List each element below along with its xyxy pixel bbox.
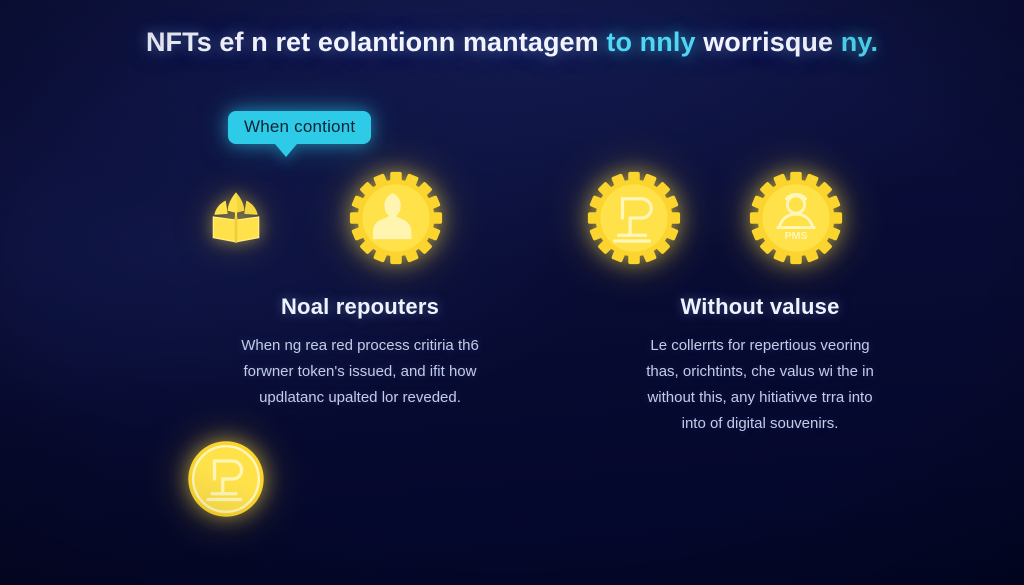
- column-left-body: When ng rea red process critiria th6 for…: [150, 333, 570, 411]
- title-segment-2: worrisque: [696, 27, 841, 57]
- column-right-line-3: without this, any hitiativve trra into: [560, 385, 960, 411]
- round-coin-monument-icon: [185, 438, 267, 520]
- column-right-line-4: into of digital souvenirs.: [560, 411, 960, 437]
- column-right-heading: Without valuse: [560, 294, 960, 320]
- title-accent-2: ny.: [841, 27, 878, 57]
- callout-bubble-tail: [275, 144, 297, 157]
- column-right-body: Le collerrts for repertious veoring thas…: [560, 333, 960, 437]
- callout-bubble[interactable]: When contiont: [228, 111, 371, 144]
- page-title: NFTs ef n ret eolantionn mantagem to nnl…: [0, 27, 1024, 58]
- callout-bubble-label: When contiont: [244, 117, 355, 136]
- column-left-line-1: When ng rea red process critiria th6: [150, 333, 570, 359]
- column-right-line-1: Le collerrts for repertious veoring: [560, 333, 960, 359]
- gear-coin-pms-icon: PMS: [748, 170, 844, 266]
- column-right: Without valuse Le collerrts for repertio…: [560, 294, 960, 437]
- book-with-leaves-icon: [203, 186, 269, 252]
- column-left-heading: Noal repouters: [150, 294, 570, 320]
- title-accent-1: to nnly: [606, 27, 695, 57]
- column-left-line-3: updlatanc upalted lor reveded.: [150, 385, 570, 411]
- column-left: Noal repouters When ng rea red process c…: [150, 294, 570, 411]
- callout-bubble-body: When contiont: [228, 111, 371, 144]
- title-segment-1: NFTs ef n ret eolantionn mantagem: [146, 27, 606, 57]
- vignette-overlay: [0, 0, 1024, 585]
- slide-canvas: NFTs ef n ret eolantionn mantagem to nnl…: [0, 0, 1024, 585]
- gear-coin-pms-label: PMS: [785, 230, 808, 242]
- gear-coin-person-icon: [348, 170, 444, 266]
- column-left-line-2: forwner token's issued, and ifit how: [150, 359, 570, 385]
- gear-coin-monument-icon: [586, 170, 682, 266]
- column-right-line-2: thas, orichtints, che valus wi the in: [560, 359, 960, 385]
